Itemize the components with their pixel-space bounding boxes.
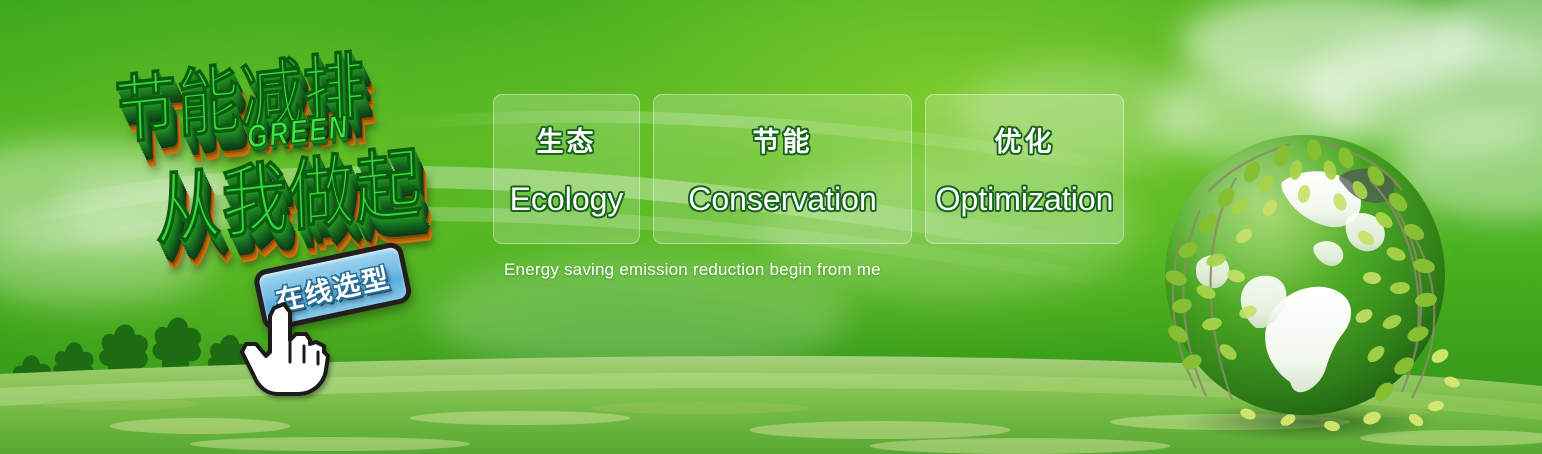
feature-card-en-label: Ecology xyxy=(510,181,624,218)
feature-card-conservation[interactable]: 节能 Conservation xyxy=(653,94,912,244)
feature-card-ecology[interactable]: 生态 Ecology xyxy=(493,94,640,244)
pointing-hand-cursor-icon xyxy=(240,300,332,396)
leafy-globe-icon xyxy=(1140,120,1470,440)
feature-card-optimization[interactable]: 优化 Optimization xyxy=(925,94,1124,244)
feature-card-cn-label: 生态 xyxy=(537,120,597,159)
feature-card-cn-label: 节能 xyxy=(753,120,813,159)
feature-card-en-label: Optimization xyxy=(936,181,1114,218)
subtitle-text: Energy saving emission reduction begin f… xyxy=(504,260,881,280)
eco-banner: 节能减排 GREEN 从我做起 生态 Ecology 节能 Conservati… xyxy=(0,0,1542,454)
headline-3d: 节能减排 GREEN 从我做起 xyxy=(95,38,495,268)
feature-card-cn-label: 优化 xyxy=(995,120,1055,159)
feature-card-list: 生态 Ecology 节能 Conservation 优化 Optimizati… xyxy=(493,94,1124,244)
feature-card-en-label: Conservation xyxy=(688,181,877,218)
